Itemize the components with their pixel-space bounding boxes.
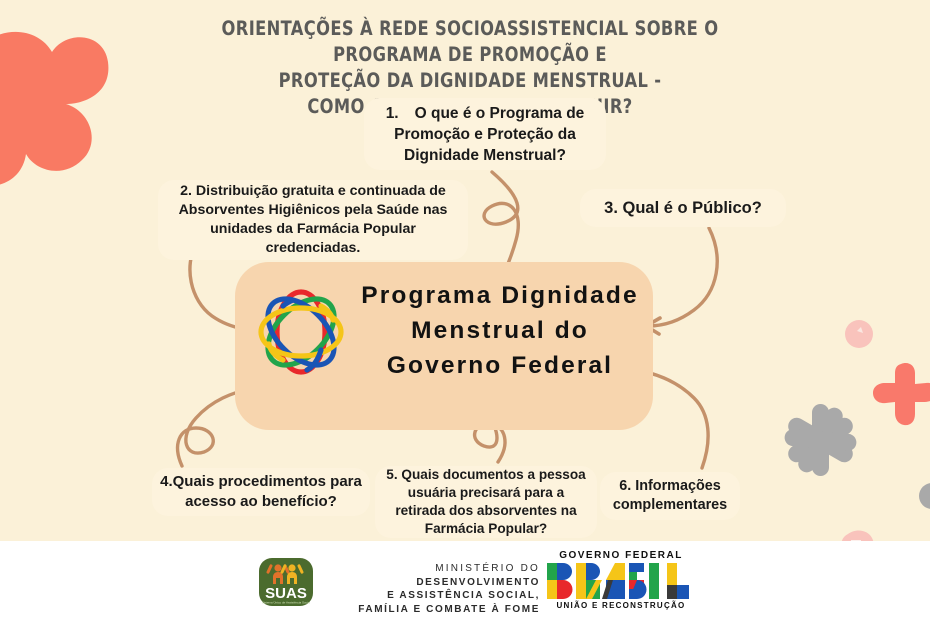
center-title: Programa Dignidade Menstrual do Governo … [345, 278, 655, 383]
topic-1-number: 1. [386, 103, 399, 124]
government-federal-label: GOVERNO FEDERAL [545, 550, 697, 561]
topic-bubble-2[interactable]: 2. Distribuição gratuita e continuada de… [158, 180, 468, 260]
gray-asterisk-right [784, 404, 857, 476]
pink-circle-right [845, 320, 873, 348]
suas-logo-wordmark: SUAS [265, 585, 307, 602]
topic-2-label: 2. Distribuição gratuita e continuada de… [166, 182, 460, 258]
center-title-line-3: Governo Federal [345, 348, 655, 383]
suas-logo-icon: SUAS Sistema Único de Assistência Social [258, 557, 314, 607]
topic-bubble-4[interactable]: 4.Quais procedimentos para acesso ao ben… [152, 468, 370, 516]
coral-cross-right [873, 363, 930, 425]
governo-federal-rings-icon [245, 282, 357, 382]
government-logo-block: GOVERNO FEDERAL [545, 550, 697, 612]
topic-3-label: 3. Qual é o Público? [604, 197, 762, 219]
ministry-line-2: DESENVOLVIMENTO [330, 576, 540, 590]
page-title-line-2: Proteção da Dignidade Menstrual - [172, 68, 767, 94]
ministry-line-1: MINISTÉRIO DO [330, 562, 540, 576]
ministry-line-4: FAMÍLIA E COMBATE À FOME [330, 603, 540, 617]
topic-6-label: 6. Informações complementares [604, 477, 736, 515]
center-title-line-2: Menstrual do [345, 313, 655, 348]
topic-bubble-1[interactable]: 1.O que é o Programa de Promoção e Prote… [364, 98, 606, 170]
brasil-wordmark-icon [545, 563, 697, 599]
gray-circle-right-edge [919, 483, 930, 509]
infographic-canvas: Orientações à Rede Socioassistencial sob… [0, 0, 930, 620]
topic-5-label: 5. Quais documentos a pessoa usuária pre… [381, 466, 591, 538]
topic-bubble-3[interactable]: 3. Qual é o Público? [580, 189, 786, 227]
topic-bubble-6[interactable]: 6. Informações complementares [600, 472, 740, 520]
arrow-topic-3 [646, 228, 717, 334]
page-title-line-1: Orientações à Rede Socioassistencial sob… [172, 16, 767, 68]
ministry-name: MINISTÉRIO DO DESENVOLVIMENTO E ASSISTÊN… [330, 562, 540, 616]
suas-logo-subtitle: Sistema Único de Assistência Social [262, 600, 311, 605]
coral-blob-top-left [0, 32, 108, 186]
topic-4-label: 4.Quais procedimentos para acesso ao ben… [158, 472, 364, 512]
center-title-line-1: Programa Dignidade [345, 278, 655, 313]
government-slogan: UNIÃO E RECONSTRUÇÃO [545, 601, 697, 610]
ministry-line-3: E ASSISTÊNCIA SOCIAL, [330, 589, 540, 603]
topic-1-label: O que é o Programa de Promoção e Proteçã… [394, 105, 584, 164]
topic-bubble-5[interactable]: 5. Quais documentos a pessoa usuária pre… [375, 466, 597, 538]
